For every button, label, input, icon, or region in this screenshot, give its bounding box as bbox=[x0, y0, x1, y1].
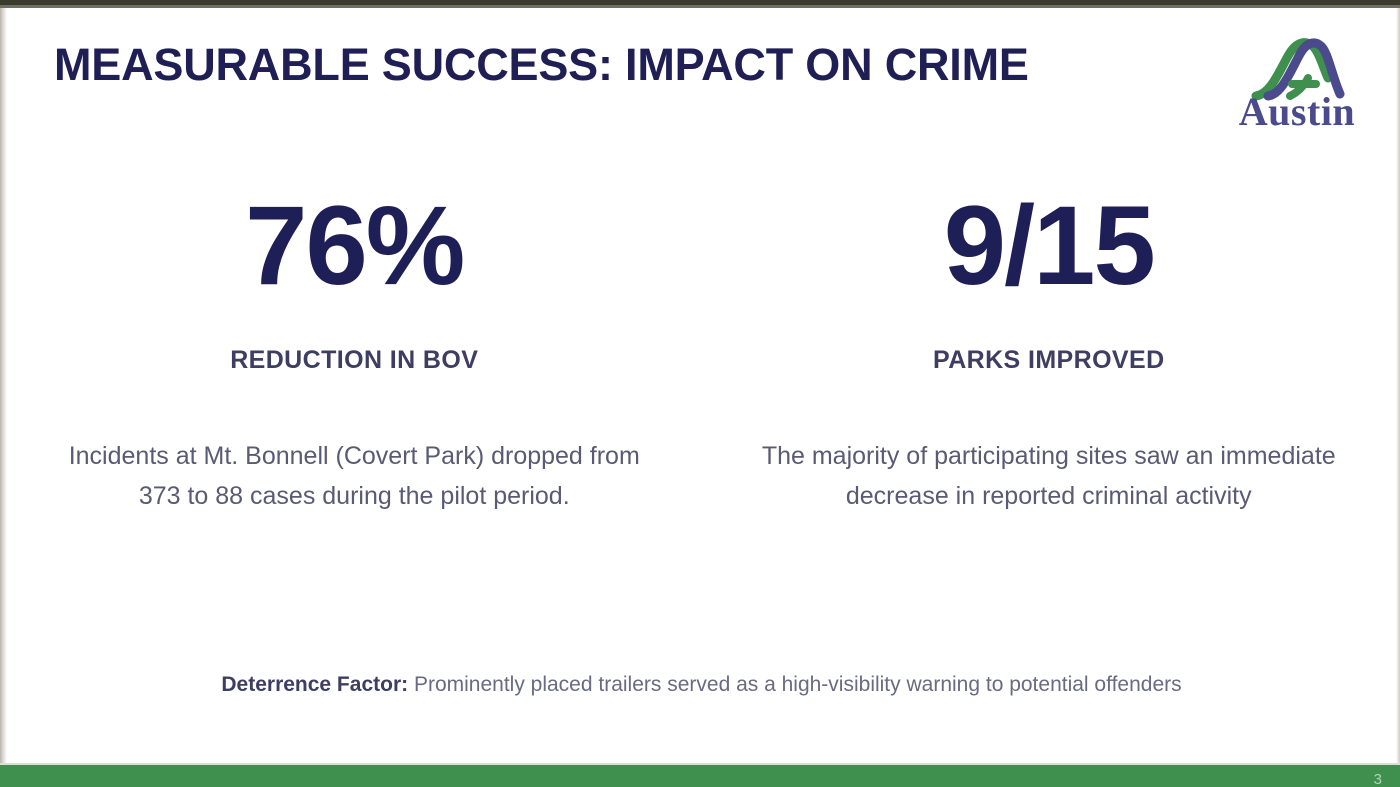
stats-row: 76% REDUCTION IN BOV Incidents at Mt. Bo… bbox=[7, 190, 1396, 516]
stat-label: PARKS IMPROVED bbox=[732, 346, 1367, 375]
austin-wordmark: Austin bbox=[1236, 92, 1358, 132]
page-title: MEASURABLE SUCCESS: IMPACT ON CRIME bbox=[54, 40, 1029, 90]
page-number: 3 bbox=[1374, 772, 1382, 787]
austin-logo: Austin bbox=[1236, 34, 1358, 149]
footnote: Deterrence Factor: Prominently placed tr… bbox=[7, 670, 1396, 699]
presentation-slide: MEASURABLE SUCCESS: IMPACT ON CRIME Aust… bbox=[0, 0, 1400, 787]
slide-right-edge bbox=[1396, 8, 1400, 765]
stat-card-reduction: 76% REDUCTION IN BOV Incidents at Mt. Bo… bbox=[7, 190, 702, 516]
stat-value: 76% bbox=[37, 190, 672, 302]
footnote-lead: Deterrence Factor: bbox=[221, 673, 408, 696]
bottom-band: 3 bbox=[0, 765, 1400, 787]
stat-label: REDUCTION IN BOV bbox=[37, 346, 672, 375]
slide-header: MEASURABLE SUCCESS: IMPACT ON CRIME Aust… bbox=[54, 40, 1380, 150]
stat-description: Incidents at Mt. Bonnell (Covert Park) d… bbox=[54, 437, 654, 516]
stat-description: The majority of participating sites saw … bbox=[744, 437, 1354, 516]
slide-left-edge bbox=[0, 8, 7, 765]
window-top-strip-highlight bbox=[0, 5, 1400, 8]
footnote-text: Prominently placed trailers served as a … bbox=[408, 673, 1182, 696]
stat-card-parks: 9/15 PARKS IMPROVED The majority of part… bbox=[702, 190, 1397, 516]
stat-value: 9/15 bbox=[732, 190, 1367, 302]
